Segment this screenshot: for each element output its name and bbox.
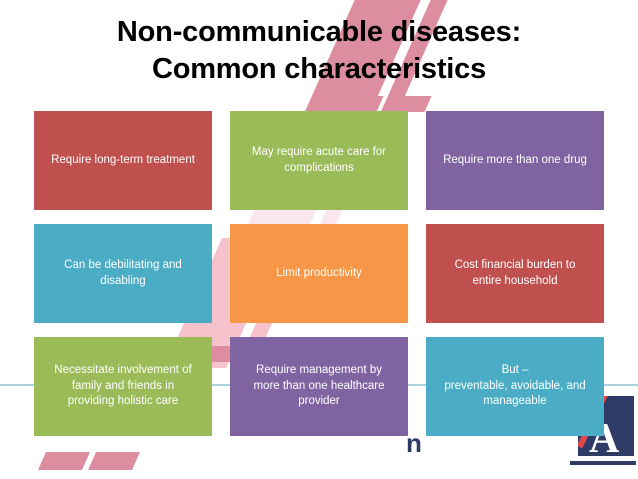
characteristics-row: Necessitate involvement of family and fr… bbox=[34, 337, 604, 436]
characteristic-box: Require long-term treatment bbox=[34, 111, 212, 210]
characteristic-box: Limit productivity bbox=[230, 224, 408, 323]
characteristic-box: But – preventable, avoidable, and manage… bbox=[426, 337, 604, 436]
characteristic-box: May require acute care for complications bbox=[230, 111, 408, 210]
slide-canvas: Non-communicable diseases: Common charac… bbox=[0, 0, 638, 479]
characteristic-box: Necessitate involvement of family and fr… bbox=[34, 337, 212, 436]
pink-parallelogram-top-left bbox=[334, 96, 383, 112]
characteristics-row: Can be debilitating and disabling Limit … bbox=[34, 224, 604, 323]
characteristic-box: Can be debilitating and disabling bbox=[34, 224, 212, 323]
pink-parallelogram-bottom-left bbox=[38, 452, 90, 470]
slide-title: Non-communicable diseases: Common charac… bbox=[0, 14, 638, 88]
pink-parallelogram-bottom-right bbox=[88, 452, 140, 470]
characteristics-grid: Require long-term treatment May require … bbox=[34, 111, 604, 436]
characteristic-box: Require more than one drug bbox=[426, 111, 604, 210]
characteristic-box: Require management by more than one heal… bbox=[230, 337, 408, 436]
pink-parallelogram-top-right bbox=[382, 96, 431, 112]
characteristics-row: Require long-term treatment May require … bbox=[34, 111, 604, 210]
logo-underline bbox=[570, 461, 636, 465]
characteristic-box: Cost financial burden to entire househol… bbox=[426, 224, 604, 323]
